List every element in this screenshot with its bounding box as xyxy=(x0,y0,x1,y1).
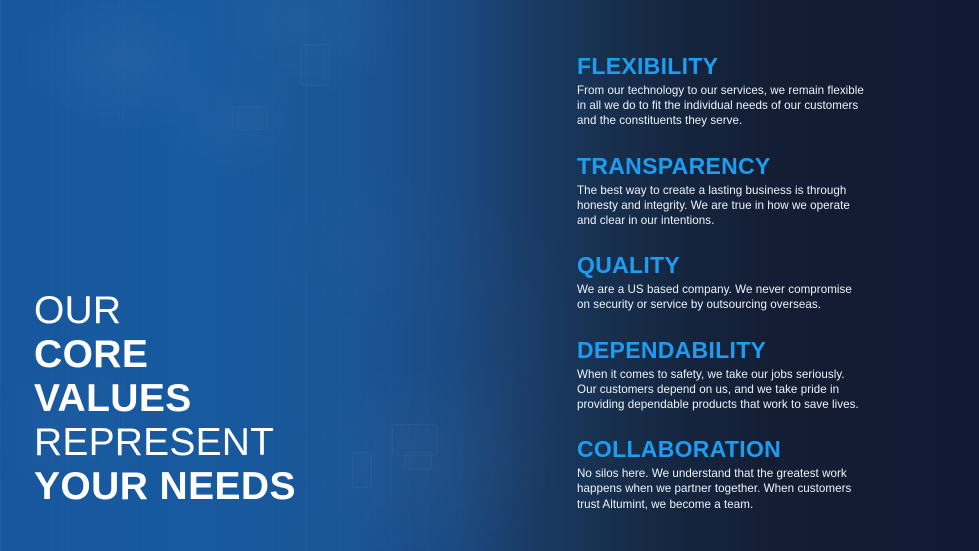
value-description: From our technology to our services, we … xyxy=(577,83,937,129)
value-description-line: The best way to create a lasting busines… xyxy=(577,183,937,198)
value-title: FLEXIBILITY xyxy=(577,53,937,80)
headline-line-1: OUR xyxy=(34,289,534,333)
core-values-list: FLEXIBILITY From our technology to our s… xyxy=(577,53,937,512)
value-description: We are a US based company. We never comp… xyxy=(577,282,937,312)
value-description-line: trust Altumint, we become a team. xyxy=(577,497,937,512)
value-description-line: on security or service by outsourcing ov… xyxy=(577,297,937,312)
headline: OUR CORE VALUES REPRESENT YOUR NEEDS xyxy=(34,289,534,509)
circuit-shape xyxy=(300,44,330,86)
value-block-transparency: TRANSPARENCY The best way to create a la… xyxy=(577,153,937,229)
value-description-line: and the constituents they serve. xyxy=(577,113,937,128)
value-block-quality: QUALITY We are a US based company. We ne… xyxy=(577,252,937,312)
value-title: DEPENDABILITY xyxy=(577,337,937,364)
value-title: QUALITY xyxy=(577,252,937,279)
value-title: COLLABORATION xyxy=(577,436,937,463)
value-description-line: happens when we partner together. When c… xyxy=(577,481,937,496)
slide-canvas: OUR CORE VALUES REPRESENT YOUR NEEDS FLE… xyxy=(0,0,979,551)
value-description-line: When it comes to safety, we take our job… xyxy=(577,367,937,382)
value-block-flexibility: FLEXIBILITY From our technology to our s… xyxy=(577,53,937,129)
value-description: The best way to create a lasting busines… xyxy=(577,183,937,229)
value-description-line: in all we do to fit the individual needs… xyxy=(577,98,937,113)
value-description: When it comes to safety, we take our job… xyxy=(577,367,937,413)
value-description: No silos here. We understand that the gr… xyxy=(577,466,937,512)
value-title: TRANSPARENCY xyxy=(577,153,937,180)
value-description-line: No silos here. We understand that the gr… xyxy=(577,466,937,481)
circuit-shape xyxy=(232,106,268,130)
value-description-line: providing dependable products that work … xyxy=(577,397,937,412)
value-block-dependability: DEPENDABILITY When it comes to safety, w… xyxy=(577,337,937,413)
headline-line-5: YOUR NEEDS xyxy=(34,465,534,509)
headline-line-4: REPRESENT xyxy=(34,421,534,465)
value-description-line: honesty and integrity. We are true in ho… xyxy=(577,198,937,213)
value-block-collaboration: COLLABORATION No silos here. We understa… xyxy=(577,436,937,512)
headline-line-3: VALUES xyxy=(34,377,534,421)
value-description-line: We are a US based company. We never comp… xyxy=(577,282,937,297)
value-description-line: and clear in our intentions. xyxy=(577,213,937,228)
value-description-line: From our technology to our services, we … xyxy=(577,83,937,98)
value-description-line: Our customers depend on us, and we take … xyxy=(577,382,937,397)
headline-line-2: CORE xyxy=(34,333,534,377)
